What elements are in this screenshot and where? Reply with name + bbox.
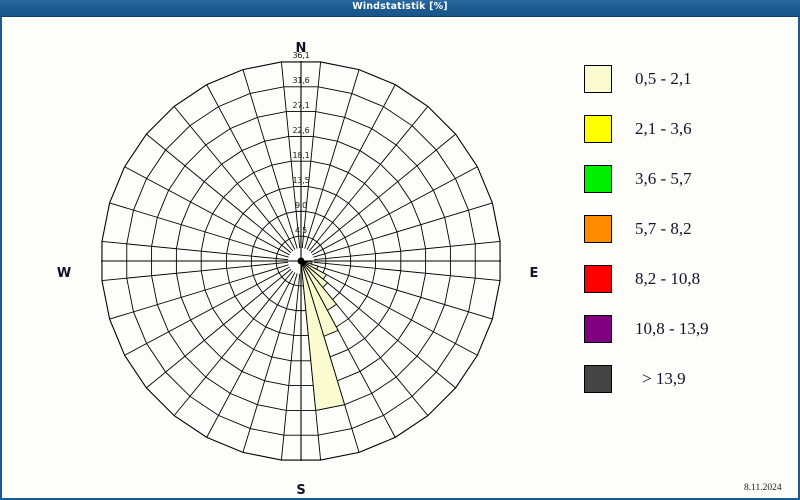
- grid-spoke: [312, 167, 477, 255]
- radial-tick-label: 31,6: [278, 76, 324, 85]
- radial-tick-label: 13,5: [278, 176, 324, 185]
- legend-label: 10,8 - 13,9: [635, 319, 709, 339]
- legend-label: 8,2 - 10,8: [635, 269, 700, 289]
- grid-spoke: [125, 167, 290, 255]
- legend-row[interactable]: 10,8 - 13,9: [584, 304, 784, 354]
- grid-spoke: [312, 267, 477, 355]
- legend-label: 0,5 - 2,1: [635, 69, 692, 89]
- radial-tick-label: 22,6: [278, 126, 324, 135]
- legend-swatch: [584, 365, 612, 393]
- chart-frame: N E S W 4,59,013,518,122,627,131,636,1 0…: [0, 17, 800, 500]
- legend-label: > 13,9: [642, 369, 686, 389]
- legend-row[interactable]: 8,2 - 10,8: [584, 254, 784, 304]
- legend-row[interactable]: > 13,9: [584, 354, 784, 404]
- radial-tick-label: 27,1: [278, 101, 324, 110]
- radial-tick-label: 18,1: [278, 151, 324, 160]
- grid-spoke: [314, 241, 500, 259]
- compass-label-east: E: [514, 266, 554, 281]
- radial-tick-label: 9,0: [278, 201, 324, 210]
- radial-tick-label: 4,5: [278, 226, 324, 235]
- grid-spoke: [281, 274, 299, 460]
- windrose-window: Windstatistik [%] N E S W 4,59,013,518,1…: [0, 0, 800, 500]
- legend-row[interactable]: 2,1 - 3,6: [584, 104, 784, 154]
- compass-label-west: W: [44, 266, 84, 281]
- legend-swatch: [584, 215, 612, 243]
- legend-swatch: [584, 265, 612, 293]
- compass-label-south: S: [281, 483, 321, 498]
- date-stamp: 8.11.2024: [744, 483, 782, 493]
- legend-swatch: [584, 115, 612, 143]
- window-title-bar: Windstatistik [%]: [0, 0, 800, 17]
- grid-spoke: [125, 267, 290, 355]
- radial-tick-label: 36,1: [278, 51, 324, 60]
- legend-swatch: [584, 165, 612, 193]
- grid-spoke: [207, 272, 295, 437]
- legend-row[interactable]: 5,7 - 8,2: [584, 204, 784, 254]
- legend-row[interactable]: 0,5 - 2,1: [584, 54, 784, 104]
- legend-swatch: [584, 315, 612, 343]
- grid-spoke: [102, 262, 288, 280]
- wind-rose-plot: [2, 17, 562, 500]
- grid-spoke: [314, 262, 500, 280]
- legend-label: 2,1 - 3,6: [635, 119, 692, 139]
- legend-row[interactable]: 3,6 - 5,7: [584, 154, 784, 204]
- window-title: Windstatistik [%]: [0, 1, 800, 12]
- rose-center-hub: [298, 258, 305, 265]
- speed-legend: 0,5 - 2,12,1 - 3,63,6 - 5,75,7 - 8,28,2 …: [584, 54, 784, 404]
- grid-spoke: [102, 241, 288, 259]
- legend-swatch: [584, 65, 612, 93]
- legend-label: 3,6 - 5,7: [635, 169, 692, 189]
- legend-label: 5,7 - 8,2: [635, 219, 692, 239]
